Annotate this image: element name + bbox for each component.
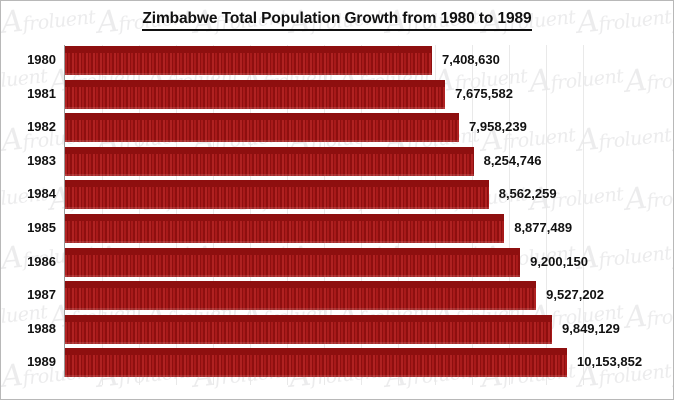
bar — [65, 80, 445, 109]
bar-row: 19848,562,259 — [65, 179, 665, 213]
bar — [65, 348, 567, 377]
watermark-text: Afroluent — [671, 114, 673, 159]
bar — [65, 113, 459, 142]
bar — [65, 214, 504, 243]
bar — [65, 46, 432, 75]
category-label: 1986 — [27, 247, 56, 276]
value-label: 7,408,630 — [432, 45, 500, 74]
category-label: 1989 — [27, 347, 56, 376]
y-axis-line — [64, 45, 65, 377]
bar-row: 19817,675,582 — [65, 79, 665, 113]
bar — [65, 147, 474, 176]
value-label: 9,200,150 — [520, 247, 588, 276]
bar-row: 19807,408,630 — [65, 45, 665, 79]
category-label: 1980 — [27, 45, 56, 74]
category-label: 1982 — [27, 112, 56, 141]
value-label: 8,254,746 — [474, 146, 542, 175]
watermark-text: Afroluent — [671, 232, 673, 277]
bar — [65, 180, 489, 209]
bar-row: 19879,527,202 — [65, 280, 665, 314]
bar-series: 19807,408,63019817,675,58219827,958,2391… — [65, 45, 665, 381]
category-label: 1984 — [27, 179, 56, 208]
bar-row: 19869,200,150 — [65, 247, 665, 281]
bar-row: 19889,849,129 — [65, 314, 665, 348]
chart-title: Zimbabwe Total Population Growth from 19… — [1, 10, 673, 28]
value-label: 7,675,582 — [445, 79, 513, 108]
bar — [65, 281, 536, 310]
value-label: 7,958,239 — [459, 112, 527, 141]
bar-row: 198910,153,852 — [65, 347, 665, 381]
plot-area: 19807,408,63019817,675,58219827,958,2391… — [65, 45, 665, 385]
value-label: 9,849,129 — [552, 314, 620, 343]
category-label: 1983 — [27, 146, 56, 175]
value-label: 9,527,202 — [536, 280, 604, 309]
category-label: 1987 — [27, 280, 56, 309]
bar-row: 19838,254,746 — [65, 146, 665, 180]
bar-row: 19827,958,239 — [65, 112, 665, 146]
bar-row: 19858,877,489 — [65, 213, 665, 247]
value-label: 8,562,259 — [489, 179, 557, 208]
category-label: 1985 — [27, 213, 56, 242]
chart-title-text: Zimbabwe Total Population Growth from 19… — [142, 10, 531, 31]
bar — [65, 315, 552, 344]
chart-container: AfroluentAfroluentAfroluentAfroluentAfro… — [0, 0, 674, 400]
value-label: 8,877,489 — [504, 213, 572, 242]
bar — [65, 248, 520, 277]
category-label: 1988 — [27, 314, 56, 343]
value-label: 10,153,852 — [567, 347, 642, 376]
watermark-text: Afroluent — [671, 350, 673, 395]
category-label: 1981 — [27, 79, 56, 108]
